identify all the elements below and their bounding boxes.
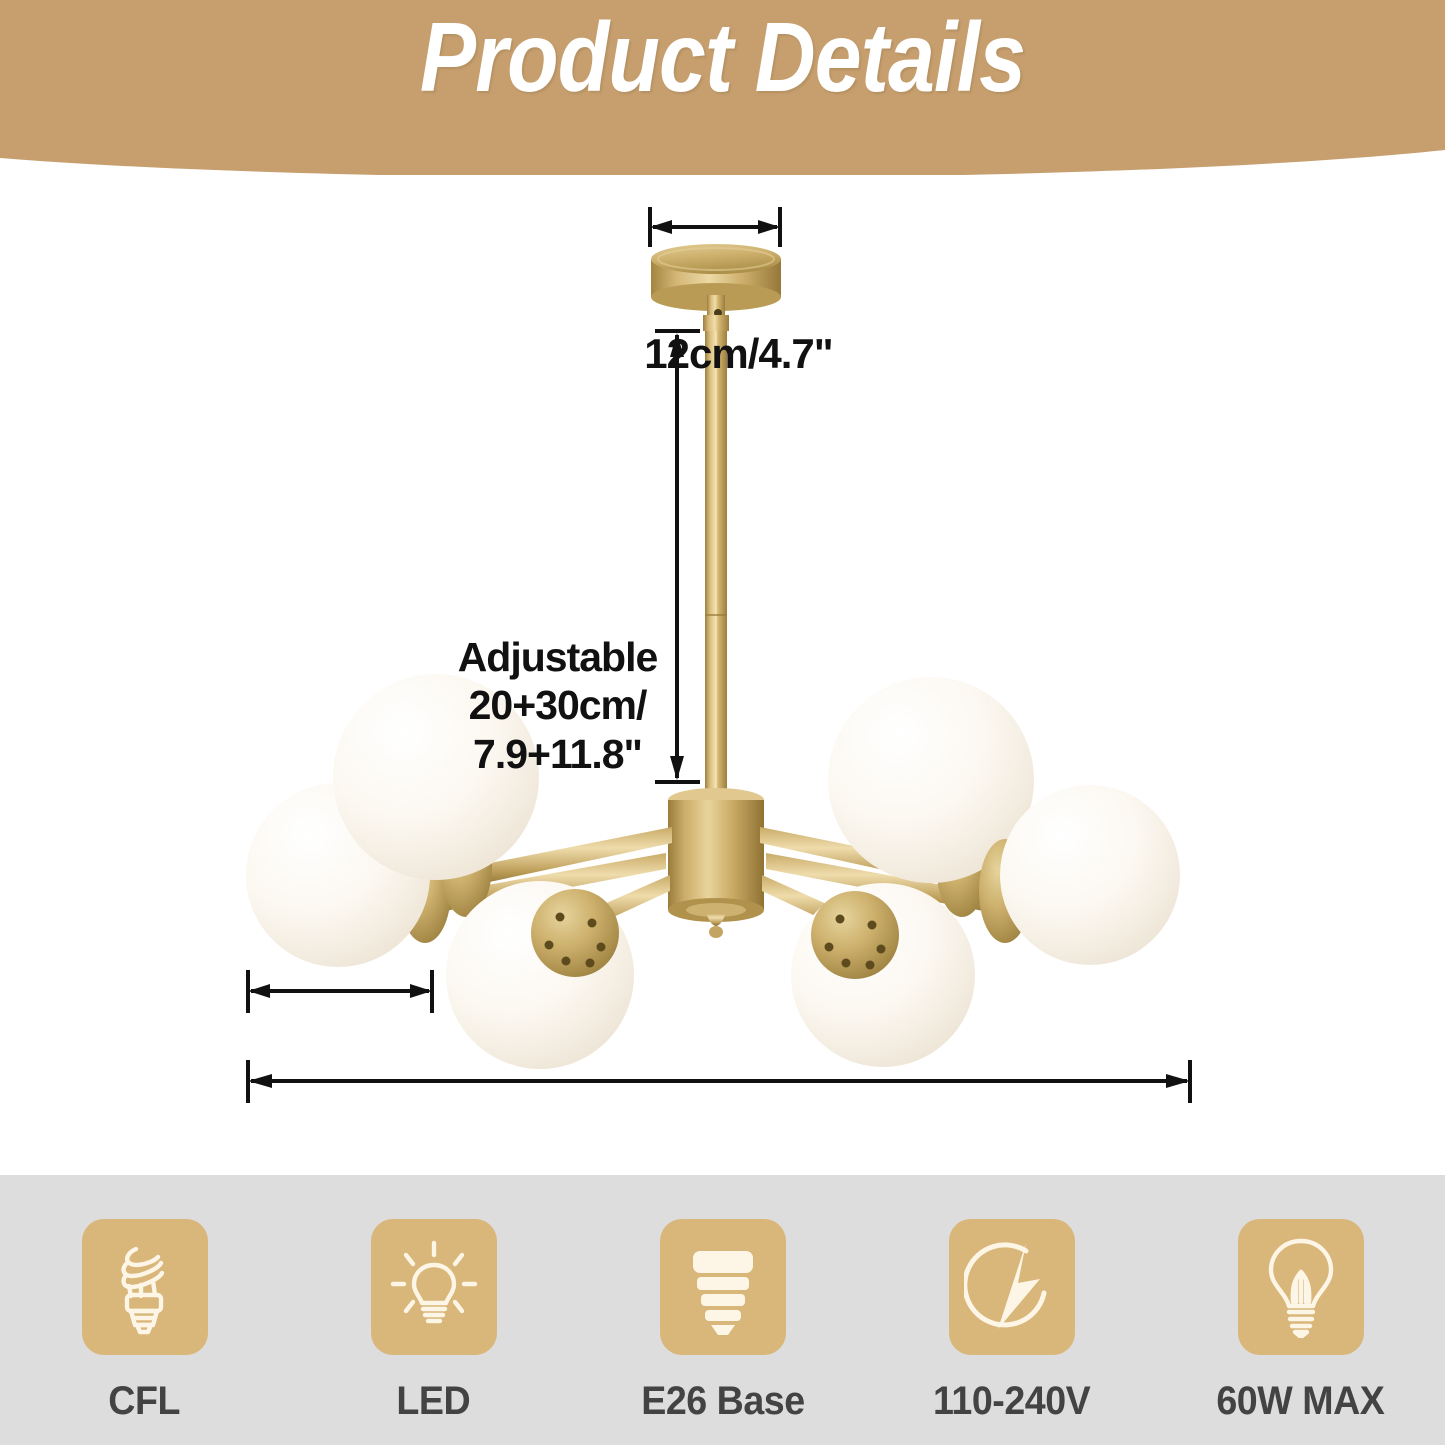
downrod	[703, 315, 729, 795]
adjustable-line-3: 7.9+11.8"	[445, 730, 670, 778]
feature-tile-cfl	[82, 1219, 208, 1355]
feature-item-led[interactable]: LED	[319, 1219, 549, 1424]
adjustable-line-1: Adjustable	[445, 633, 670, 681]
feature-tile-led	[371, 1219, 497, 1355]
lightning-bolt-circle-icon	[964, 1237, 1060, 1337]
page-title: Product Details	[101, 6, 1344, 109]
globe-left-lower	[446, 881, 634, 1069]
e26-screw-base-icon	[681, 1237, 765, 1337]
feature-item-wattage[interactable]: 60W MAX	[1186, 1219, 1416, 1424]
cfl-spiral-bulb-icon	[105, 1237, 185, 1337]
feature-label-cfl: CFL	[109, 1379, 181, 1424]
feature-label-wattage: 60W MAX	[1216, 1379, 1384, 1424]
feature-tile-e26-base	[660, 1219, 786, 1355]
feature-tile-wattage	[1238, 1219, 1364, 1355]
feature-item-e26-base[interactable]: E26 Base	[608, 1219, 838, 1424]
globe-right-lower	[791, 883, 975, 1067]
adjustable-line-2: 20+30cm/	[445, 681, 670, 729]
dimension-label-adjustable-height: Adjustable 20+30cm/ 7.9+11.8"	[445, 633, 670, 778]
feature-item-voltage[interactable]: 110-240V	[897, 1219, 1127, 1424]
feature-label-led: LED	[397, 1379, 471, 1424]
chandelier-diagram	[0, 175, 1445, 1175]
canopy-connector	[707, 295, 725, 317]
incandescent-bulb-icon	[1259, 1236, 1343, 1338]
feature-row: CFL	[0, 1175, 1445, 1445]
feature-label-e26-base: E26 Base	[641, 1379, 804, 1424]
feature-tile-voltage	[949, 1219, 1075, 1355]
dimension-label-canopy-width: 12cm/4.7"	[0, 330, 1445, 378]
feature-item-cfl[interactable]: CFL	[30, 1219, 260, 1424]
product-illustration-area: 12cm/4.7" Adjustable 20+30cm/ 7.9+11.8" …	[0, 175, 1445, 1175]
feature-strip: CFL	[0, 1175, 1445, 1445]
dimension-overall-width	[248, 1060, 1190, 1103]
led-bulb-rays-icon	[389, 1239, 479, 1335]
dimension-canopy-width	[650, 207, 780, 247]
feature-label-voltage: 110-240V	[933, 1379, 1090, 1424]
header-banner: Product Details	[0, 0, 1445, 175]
center-hub	[668, 788, 764, 938]
dimension-globe-diameter	[248, 970, 432, 1013]
